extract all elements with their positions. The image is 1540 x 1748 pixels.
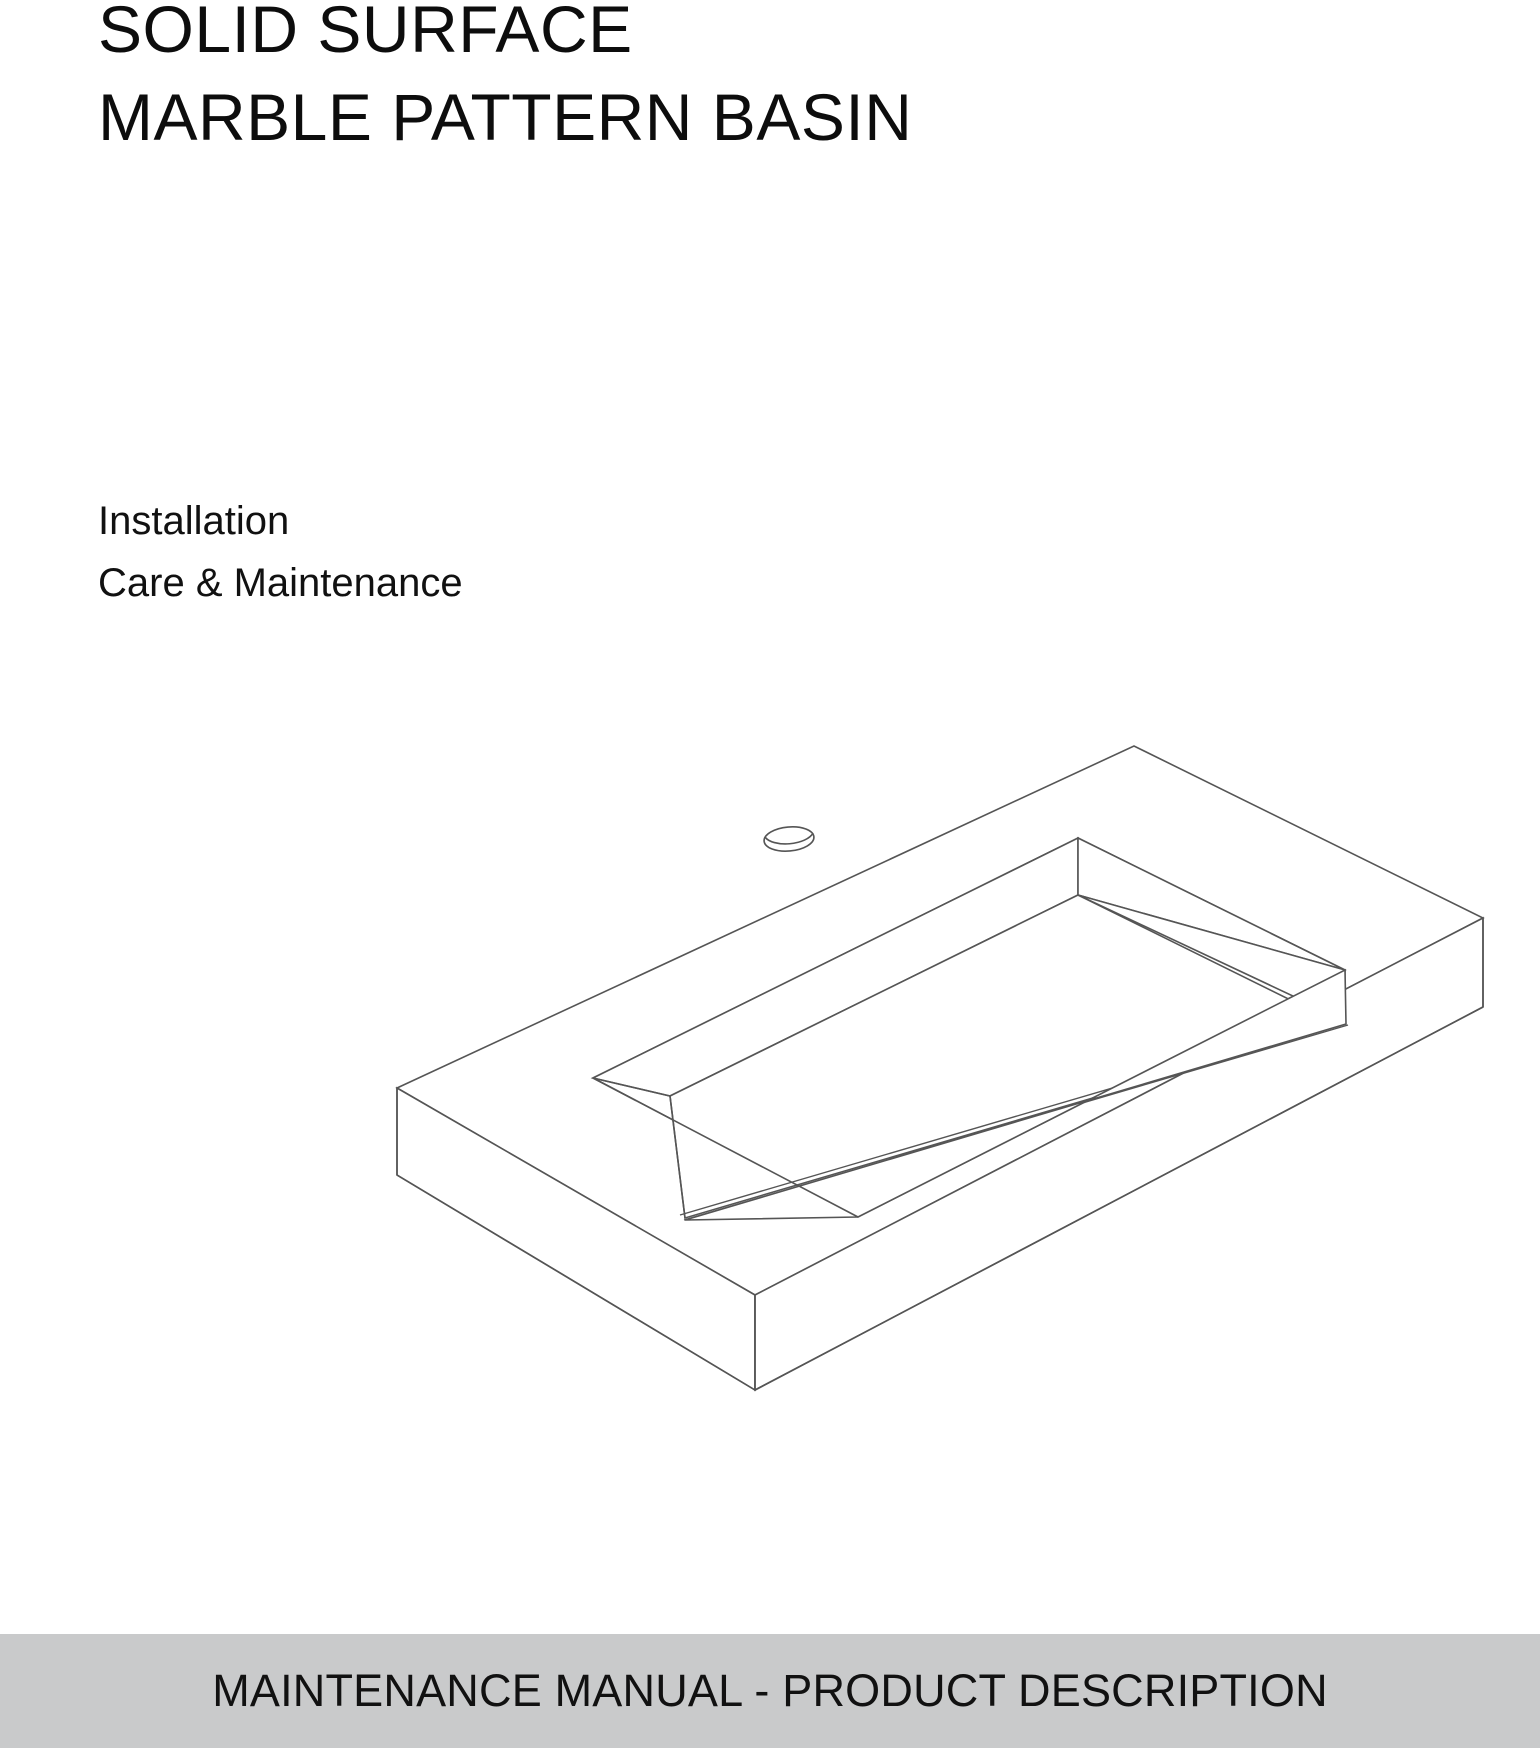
isometric-basin-drawing — [0, 620, 1540, 1440]
footer-banner: MAINTENANCE MANUAL - PRODUCT DESCRIPTION — [0, 1634, 1540, 1748]
title-line-2: MARBLE PATTERN BASIN — [98, 74, 1298, 162]
footer-title: MAINTENANCE MANUAL - PRODUCT DESCRIPTION — [212, 1665, 1328, 1717]
subtitle-line-installation: Installation — [98, 490, 998, 552]
page-title: SOLID SURFACE MARBLE PATTERN BASIN — [98, 0, 1298, 162]
basin-illustration — [0, 620, 1540, 1440]
title-line-1: SOLID SURFACE — [98, 0, 1298, 74]
document-page: SOLID SURFACE MARBLE PATTERN BASIN Insta… — [0, 0, 1540, 1748]
subtitle-line-care-maintenance: Care & Maintenance — [98, 552, 998, 614]
page-subtitle: Installation Care & Maintenance — [98, 490, 998, 614]
